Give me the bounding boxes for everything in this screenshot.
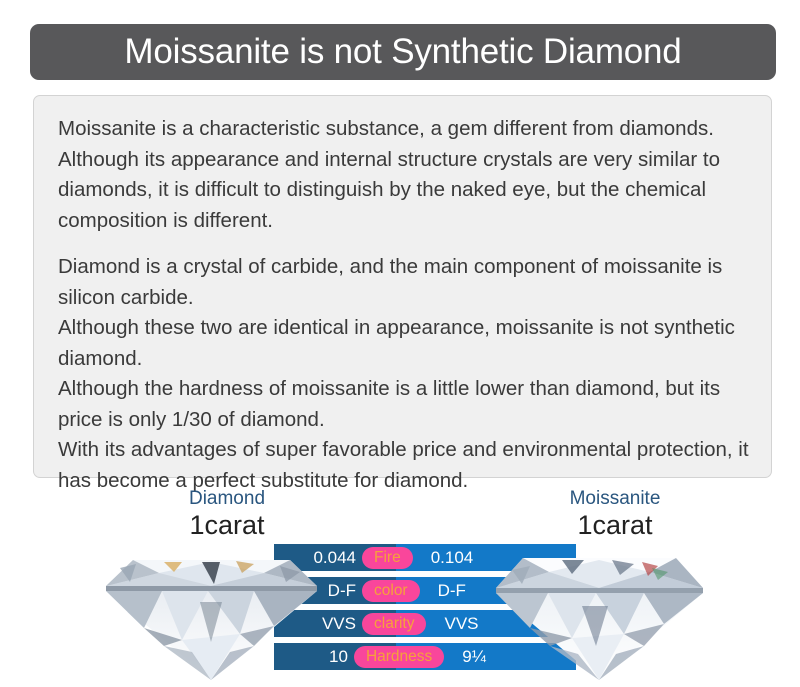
spec-row: D-F color D-F bbox=[284, 577, 528, 604]
page-title: Moissanite is not Synthetic Diamond bbox=[124, 32, 681, 72]
description-paragraph-2: Diamond is a crystal of carbide, and the… bbox=[58, 252, 749, 313]
spec-moissanite-value: 0.104 bbox=[419, 548, 505, 568]
spec-row: 10 Hardness 9¼ bbox=[284, 643, 528, 670]
left-gem-label: Diamond 1carat bbox=[112, 488, 342, 540]
description-paragraph-1: Moissanite is a characteristic substance… bbox=[58, 114, 749, 236]
page-title-banner: Moissanite is not Synthetic Diamond bbox=[30, 24, 776, 80]
right-gem-kind: Moissanite bbox=[500, 488, 730, 510]
description-paragraph-4: Although the hardness of moissanite is a… bbox=[58, 374, 749, 435]
description-paragraph-3: Although these two are identical in appe… bbox=[58, 313, 749, 374]
spec-property-pill: clarity bbox=[362, 613, 426, 635]
right-gem-carat: 1carat bbox=[500, 510, 730, 540]
spec-moissanite-value: VVS bbox=[432, 614, 518, 634]
spec-diamond-value: 10 bbox=[284, 647, 348, 667]
spec-diamond-value: VVS bbox=[284, 614, 356, 634]
spec-row: VVS clarity VVS bbox=[284, 610, 528, 637]
spec-property-pill: Fire bbox=[362, 547, 413, 569]
spec-row: 0.044 Fire 0.104 bbox=[284, 544, 528, 571]
spec-diamond-value: 0.044 bbox=[284, 548, 356, 568]
right-gem-label: Moissanite 1carat bbox=[500, 488, 730, 540]
description-card: Moissanite is a characteristic substance… bbox=[33, 95, 772, 478]
spec-property-pill: Hardness bbox=[354, 646, 444, 668]
spec-property-pill: color bbox=[362, 580, 420, 602]
left-gem-carat: 1carat bbox=[112, 510, 342, 540]
spec-moissanite-value: D-F bbox=[426, 581, 512, 601]
spec-moissanite-value: 9¼ bbox=[450, 647, 528, 667]
gem-comparison-section: Diamond 1carat Moissanite 1carat 0.044 F… bbox=[0, 484, 800, 687]
spec-diamond-value: D-F bbox=[284, 581, 356, 601]
left-gem-kind: Diamond bbox=[112, 488, 342, 510]
